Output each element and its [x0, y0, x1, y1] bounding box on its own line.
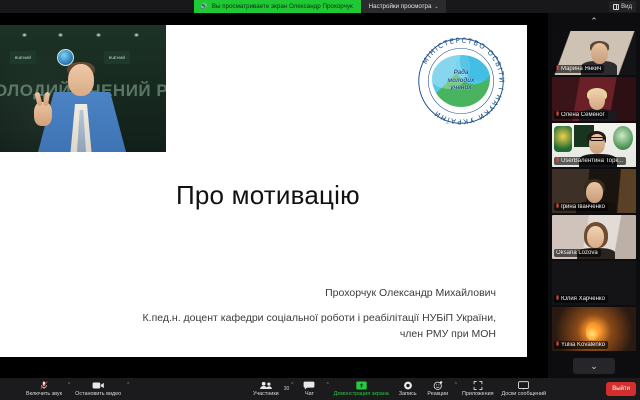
chevron-up-icon[interactable]: ⌃ — [548, 13, 640, 30]
zoom-meeting-window: 🔊 Вы просматриваете экран Олександр Прох… — [0, 0, 640, 400]
leave-meeting-button[interactable]: Выйти — [606, 382, 636, 396]
slide-author: Прохорчук Олександр Михайлович — [325, 287, 496, 299]
participants-button[interactable]: Участники — [249, 378, 283, 400]
participant-nametag: ▮ Олена Семеног — [554, 111, 608, 119]
participant-tile[interactable]: ▮ Yuliia Kovalenko — [552, 307, 636, 351]
whiteboards-label: Доски сообщений — [502, 391, 546, 397]
microphone-muted-icon: ▮ — [556, 158, 559, 164]
participant-nametag: ▮ Юлия Харченко — [554, 295, 608, 303]
participant-nametag: Oksana Lozova — [554, 249, 601, 257]
share-screen-label: Демонстрация экрана — [334, 391, 389, 397]
view-options-button[interactable]: Настройки просмотра ⌄ — [362, 0, 446, 13]
apps-grid-icon — [473, 381, 483, 390]
participants-filmstrip: ⌃ ▮ Марина Янкич ▮ Олена Семеног — [548, 13, 640, 378]
apps-button[interactable]: Приложения — [458, 378, 498, 400]
logo-line-2: молодих — [435, 77, 487, 85]
participant-tile[interactable]: ▮ Юлия Харченко — [552, 261, 636, 305]
backdrop-lights — [0, 33, 166, 41]
logo-line-1: Рада — [435, 69, 487, 77]
leave-meeting-label: Выйти — [612, 386, 630, 392]
share-notice-pill: 🔊 Вы просматриваете экран Олександр Прох… — [194, 0, 360, 13]
participant-tile[interactable]: ▮ Марина Янкич — [552, 31, 636, 75]
participant-nametag: ▮ Марина Янкич — [554, 65, 604, 73]
unmute-audio-label: Включить звук — [26, 391, 62, 397]
speaker-icon: 🔊 — [200, 4, 208, 10]
slide-affiliation: К.пед.н. доцент кафедри соціальної робот… — [143, 311, 496, 342]
participant-name: Юлия Харченко — [561, 296, 605, 302]
participant-name: Yuliia Kovalenko — [561, 342, 605, 348]
participant-nametag: ▮ UserВалентина Торк... — [554, 157, 626, 165]
participants-count: 30 — [284, 386, 290, 392]
chevron-down-icon: ⌄ — [434, 4, 438, 10]
microphone-muted-icon: ▮ — [556, 112, 559, 118]
participant-tile[interactable]: ▮ Олена Семеног — [552, 77, 636, 121]
reactions-button[interactable]: Реакции — [423, 378, 453, 400]
participant-tile[interactable]: ▮ Ірина Іванченко — [552, 169, 636, 213]
participant-name: Ірина Іванченко — [561, 204, 605, 210]
microphone-muted-icon: ▮ — [556, 66, 559, 72]
participant-name: Олена Семеног — [561, 112, 605, 118]
record-label: Запись — [399, 391, 417, 397]
chat-button[interactable]: Чат — [294, 378, 324, 400]
view-options-label: Настройки просмотра — [369, 3, 432, 10]
unmute-audio-button[interactable]: Включить звук — [22, 378, 66, 400]
affiliation-line-1: К.пед.н. доцент кафедри соціальної робот… — [143, 311, 496, 327]
record-button[interactable]: Запись — [393, 378, 423, 400]
video-camera-icon — [92, 381, 105, 390]
chat-label: Чат — [305, 391, 314, 397]
logo-center-text: Рада молодих учених — [435, 69, 487, 92]
view-button-label: Вид — [621, 4, 632, 10]
participant-nametag: ▮ Ірина Іванченко — [554, 203, 608, 211]
whiteboards-button[interactable]: Доски сообщений — [498, 378, 550, 400]
microphone-muted-icon: ▮ — [556, 342, 559, 348]
record-circle-icon — [403, 381, 413, 390]
reactions-smiley-icon — [433, 381, 443, 390]
chat-bubble-icon — [303, 381, 315, 390]
reactions-label: Реакции — [427, 391, 448, 397]
grid-layout-icon — [613, 4, 619, 10]
presentation-slide: ВЧЕНИЙ ВЧЕНИЙ ОЛОДИЙ ВЧЕНИЙ РО — [0, 25, 527, 357]
stop-video-label: Остановить видео — [75, 391, 121, 397]
video-options-caret[interactable]: ⌃ — [126, 382, 130, 388]
presenter-figure — [30, 60, 134, 152]
chevron-down-icon[interactable]: ⌄ — [573, 358, 615, 374]
people-icon — [259, 381, 273, 390]
participant-name: Oksana Lozova — [556, 250, 598, 256]
slide-title: Про мотивацію — [176, 180, 360, 211]
microphone-muted-icon: ▮ — [556, 296, 559, 302]
participants-label: Участники — [253, 391, 279, 397]
peace-sign-hand — [34, 102, 52, 126]
whiteboard-icon — [518, 381, 529, 390]
screen-share-topbar: 🔊 Вы просматриваете экран Олександр Прох… — [0, 0, 640, 13]
participant-nametag: ▮ Yuliia Kovalenko — [554, 341, 608, 349]
microphone-muted-icon — [39, 381, 49, 390]
organization-logo: МІНІСТЕРСТВО ОСВІТИ І НАУКИ УКРАЇНИ Рада… — [413, 33, 509, 129]
stop-video-button[interactable]: Остановить видео — [71, 378, 125, 400]
meeting-toolbar: Включить звук ⌃ Остановить видео ⌃ — [0, 378, 640, 400]
share-notice-text: Вы просматриваете экран Олександр Прохор… — [212, 3, 353, 10]
view-layout-button[interactable]: Вид — [609, 1, 636, 12]
affiliation-line-2: член РМУ при МОН — [143, 327, 496, 343]
share-screen-button[interactable]: Демонстрация экрана — [330, 378, 393, 400]
participant-name: Марина Янкич — [561, 66, 601, 72]
participant-name: UserВалентина Торк... — [561, 158, 623, 164]
share-screen-icon — [356, 381, 367, 390]
participant-tile[interactable]: Oksana Lozova — [552, 215, 636, 259]
microphone-muted-icon: ▮ — [556, 204, 559, 210]
logo-line-3: учених — [435, 84, 487, 92]
presenter-photo: ВЧЕНИЙ ВЧЕНИЙ ОЛОДИЙ ВЧЕНИЙ РО — [0, 25, 166, 152]
shared-screen-stage[interactable]: ВЧЕНИЙ ВЧЕНИЙ ОЛОДИЙ ВЧЕНИЙ РО — [0, 13, 548, 378]
apps-label: Приложения — [462, 391, 494, 397]
participant-tile-active-speaker[interactable]: ▮ UserВалентина Торк... — [552, 123, 636, 167]
